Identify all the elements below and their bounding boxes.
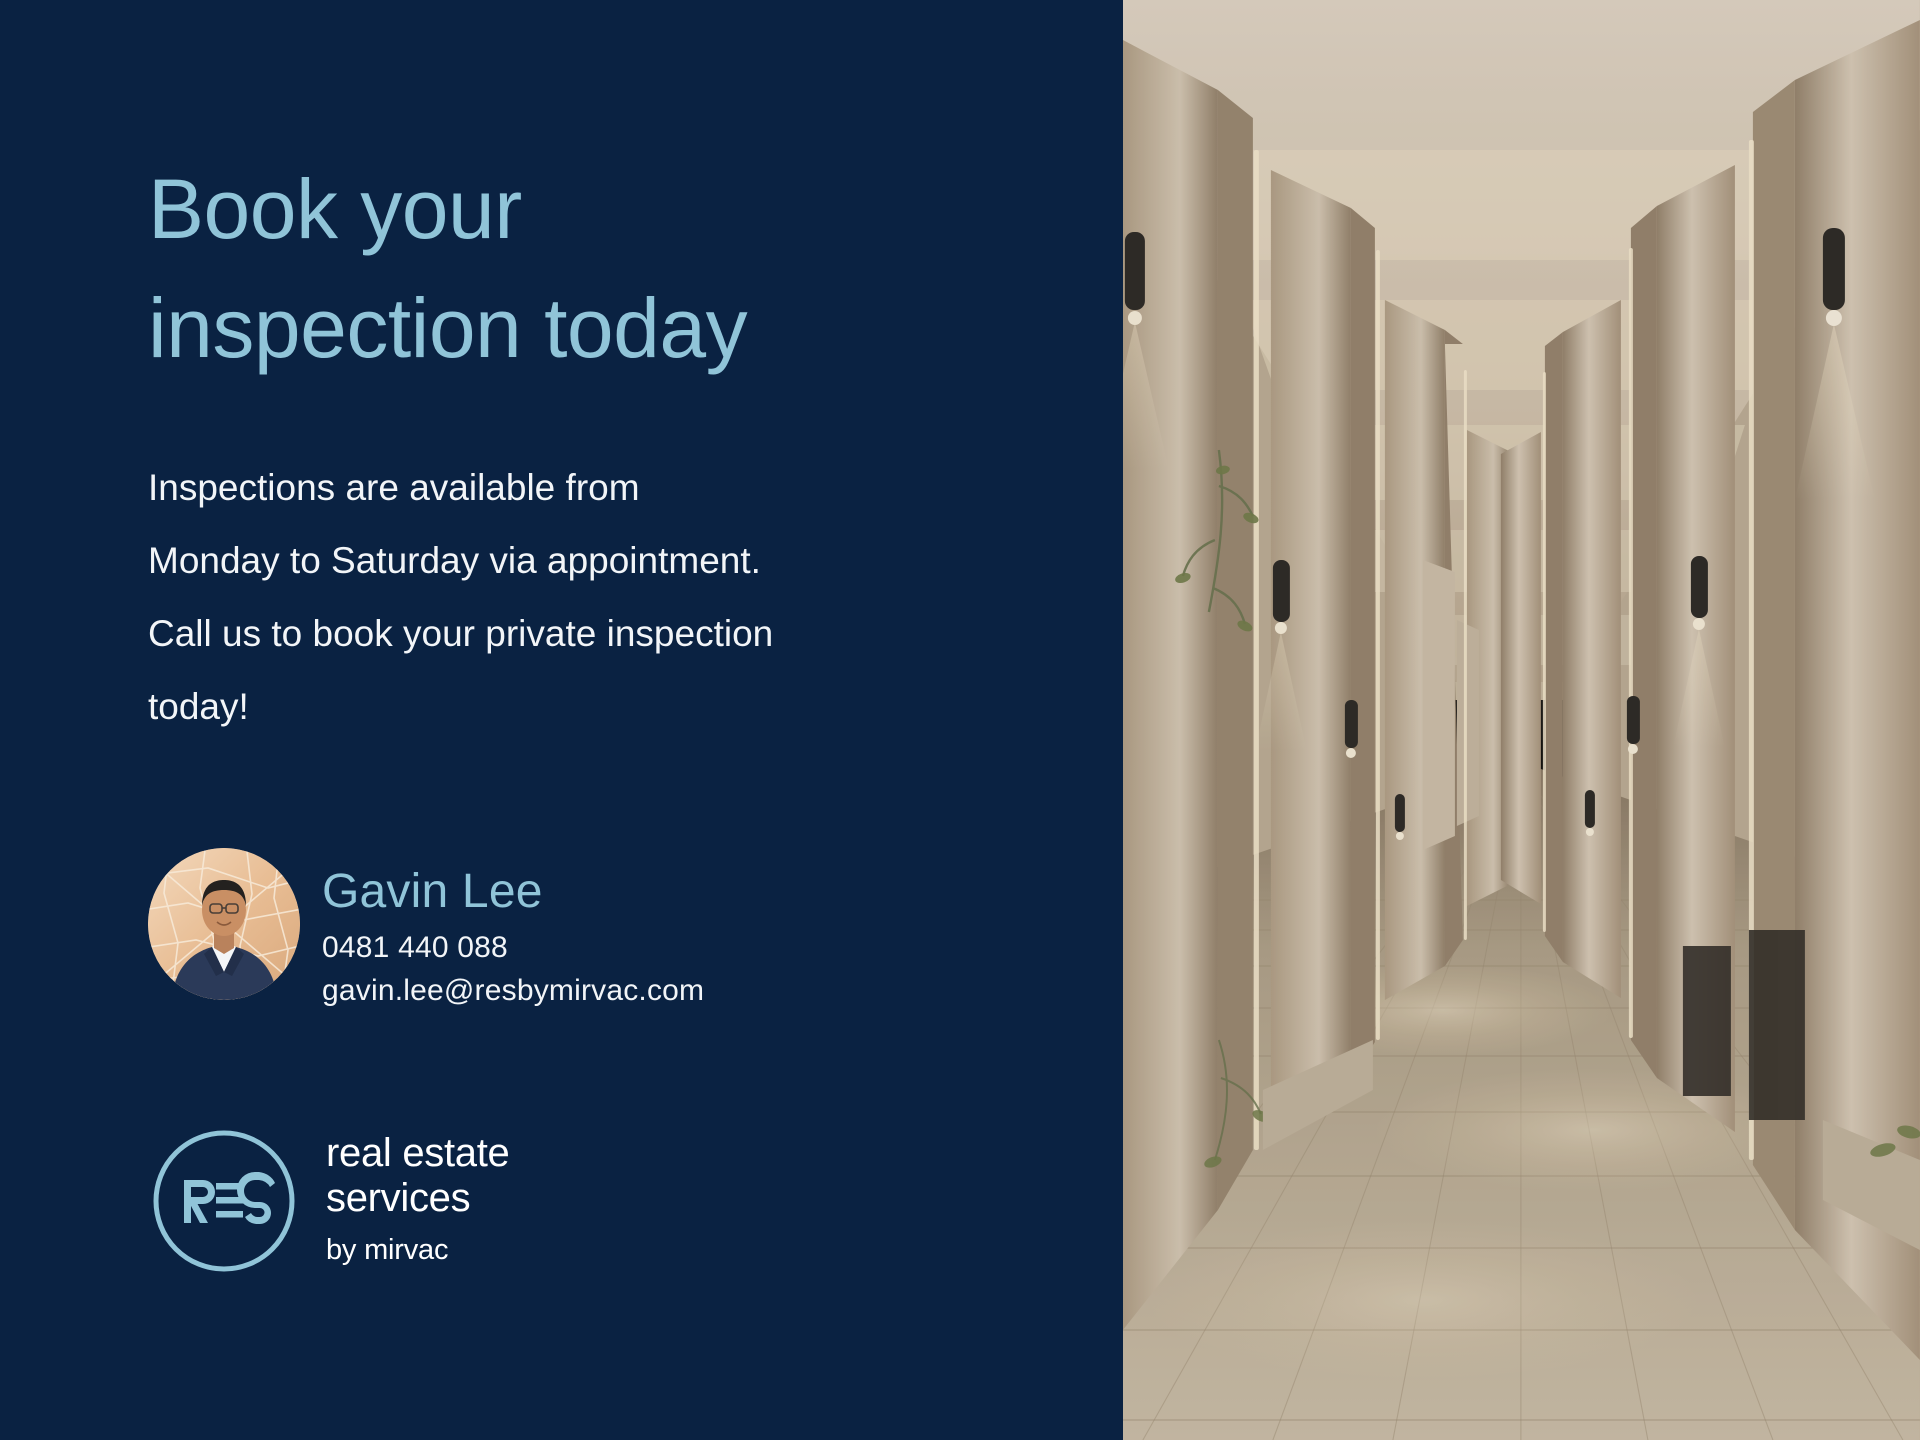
body-copy: Inspections are available from Monday to… xyxy=(148,451,1048,744)
agent-name: Gavin Lee xyxy=(322,866,704,918)
agent-email[interactable]: gavin.lee@resbymirvac.com xyxy=(322,970,704,1013)
property-photo xyxy=(1123,0,1920,1440)
avatar xyxy=(148,848,300,1000)
logo-line-real-estate: real estate xyxy=(326,1131,509,1176)
logo-wordmark: real estate services by mirvac xyxy=(326,1131,509,1269)
page-title: Book your inspection today xyxy=(148,150,1008,389)
agent-details: Gavin Lee 0481 440 088 gavin.lee@resbymi… xyxy=(322,848,704,1013)
agent-contact-block: Gavin Lee 0481 440 088 gavin.lee@resbymi… xyxy=(148,848,1123,1013)
agent-phone[interactable]: 0481 440 088 xyxy=(322,927,704,970)
res-by-mirvac-logo: real estate services by mirvac xyxy=(148,1125,1123,1277)
logo-line-services: services xyxy=(326,1176,509,1221)
marketing-poster: Book your inspection today Inspections a… xyxy=(0,0,1920,1440)
left-content-panel: Book your inspection today Inspections a… xyxy=(0,0,1123,1440)
logo-line-by-mirvac: by mirvac xyxy=(326,1233,509,1268)
res-monogram-icon xyxy=(148,1125,300,1277)
